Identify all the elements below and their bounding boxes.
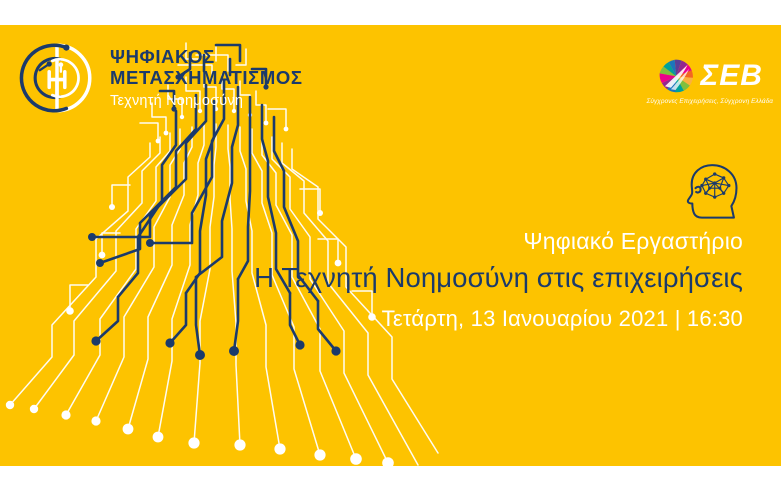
event-eyebrow: Ψηφιακό Εργαστήριο: [183, 227, 743, 256]
brand-lockup: ΨΗΦΙΑΚΟΣ ΜΕΤΑΣΧΗΜΑΤΙΣΜΟΣ Τεχνητή Νοημοσύ…: [18, 39, 303, 117]
brand-line-2: ΜΕΤΑΣΧΗΜΑΤΙΣΜΟΣ: [110, 69, 303, 88]
seb-pinwheel-logo: [657, 59, 697, 93]
poster-canvas: ΨΗΦΙΑΚΟΣ ΜΕΤΑΣΧΗΜΑΤΙΣΜΟΣ Τεχνητή Νοημοσύ…: [0, 0, 781, 492]
seb-logo: ΣΕΒ Σύγχρονες Επιχειρήσεις, Σύγχρονη Ελλ…: [646, 59, 773, 105]
event-datetime: Τετάρτη, 13 Ιανουαρίου 2021 | 16:30: [183, 305, 743, 333]
seb-tagline: Σύγχρονες Επιχειρήσεις, Σύγχρονη Ελλάδα: [646, 98, 773, 105]
seb-wordmark: ΣΕΒ: [701, 61, 763, 91]
brand-wordmark: ΨΗΦΙΑΚΟΣ ΜΕΤΑΣΧΗΜΑΤΙΣΜΟΣ Τεχνητή Νοημοσύ…: [110, 48, 303, 109]
ai-brain-head-icon: [684, 160, 748, 224]
hero-text-block: Ψηφιακό Εργαστήριο Η Τεχνητή Νοημοσύνη σ…: [183, 227, 743, 332]
yellow-banner: ΨΗΦΙΑΚΟΣ ΜΕΤΑΣΧΗΜΑΤΙΣΜΟΣ Τεχνητή Νοημοσύ…: [0, 25, 781, 466]
event-title: Η Τεχνητή Νοημοσύνη στις επιχειρήσεις: [183, 260, 743, 295]
seb-logo-row: ΣΕΒ: [657, 59, 763, 93]
brand-line-1: ΨΗΦΙΑΚΟΣ: [110, 48, 303, 67]
brand-line-3: Τεχνητή Νοημοσύνη: [110, 94, 303, 109]
digital-transformation-logo: [18, 39, 96, 117]
